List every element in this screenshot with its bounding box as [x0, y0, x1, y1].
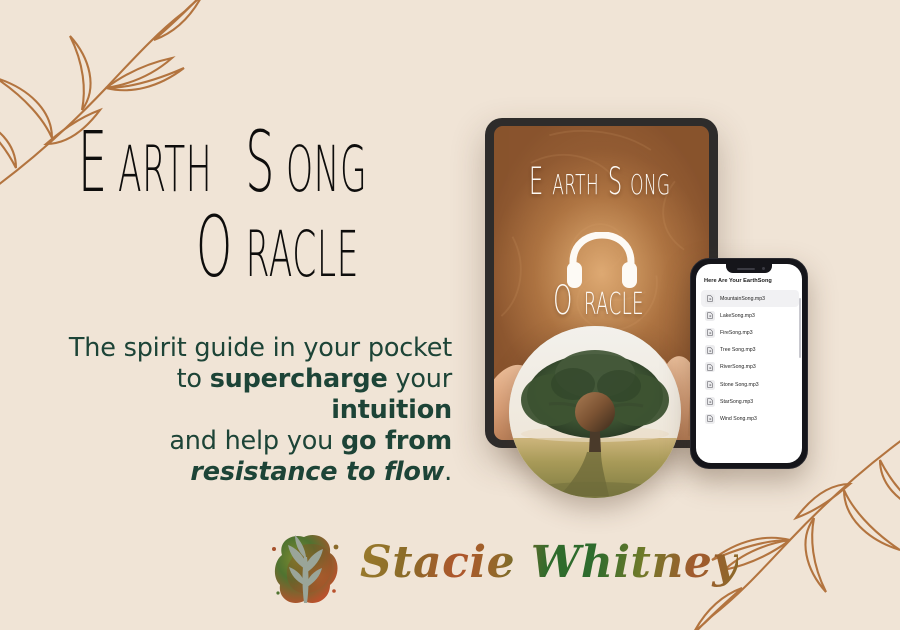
audio-file-icon — [705, 294, 715, 304]
file-name: RiverSong.mp3 — [720, 364, 756, 370]
audio-file-icon — [705, 362, 715, 372]
audio-file-icon — [705, 414, 715, 424]
speaker-bar-icon — [737, 268, 755, 270]
file-name: MountainSong.mp3 — [720, 296, 765, 302]
audio-file-icon — [705, 397, 715, 407]
list-item[interactable]: Stone Song.mp3 — [701, 376, 799, 393]
headline-cap-s: S — [245, 124, 275, 201]
subtitle-bold-supercharge: supercharge — [210, 364, 388, 394]
page-title: EARTHSONG ORACLE — [78, 124, 470, 287]
subtitle-bold-intuition: intuition — [331, 395, 452, 425]
file-name: Tree Song.mp3 — [720, 347, 756, 353]
list-item[interactable]: MountainSong.mp3 — [701, 290, 799, 307]
audio-file-icon — [705, 311, 715, 321]
subtitle-line-4: resistance to flow. — [62, 457, 452, 488]
subtitle-italic-resistance: resistance to flow — [190, 457, 444, 487]
tablet-title-ong: ONG — [630, 168, 670, 201]
subtitle-line-3: and help you go from — [62, 426, 452, 457]
audio-file-list[interactable]: MountainSong.mp3LakeSong.mp3FireSong.mp3… — [701, 290, 799, 428]
file-name: StarSong.mp3 — [720, 399, 753, 405]
headline-cap-o: O — [196, 209, 233, 286]
list-item[interactable]: Wind Song.mp3 — [701, 410, 799, 427]
audio-file-icon — [705, 380, 715, 390]
phone-scrollbar[interactable] — [799, 298, 801, 358]
watercolor-leaf-logo-icon — [268, 529, 344, 609]
file-list-heading: Here Are Your EarthSong — [704, 278, 802, 284]
subtitle-line-2: to supercharge your intuition — [62, 364, 452, 426]
audio-file-icon — [705, 345, 715, 355]
subtitle-line3-pre: and help you — [169, 426, 341, 456]
audio-file-icon — [705, 328, 715, 338]
list-item[interactable]: LakeSong.mp3 — [701, 307, 799, 324]
subtitle-bold-gofrom: go from — [341, 426, 452, 456]
tablet-title-cap2: S — [608, 160, 623, 203]
brand-signature: Stacie Whitney — [268, 527, 648, 613]
file-name: LakeSong.mp3 — [720, 313, 755, 319]
cd-disc-mockup — [509, 326, 681, 498]
list-item[interactable]: Tree Song.mp3 — [701, 342, 799, 359]
list-item[interactable]: FireSong.mp3 — [701, 324, 799, 341]
subtitle-line-1: The spirit guide in your pocket — [62, 333, 452, 364]
list-item[interactable]: StarSong.mp3 — [701, 393, 799, 410]
file-name: Wind Song.mp3 — [720, 416, 757, 422]
subtitle-line2-mid: your — [388, 364, 452, 394]
file-name: Stone Song.mp3 — [720, 382, 759, 388]
tablet-title-arth: ARTH — [552, 168, 599, 201]
tablet-title-cap: E — [529, 160, 544, 203]
headline-ong: ONG — [286, 141, 367, 199]
headline-cap-e: E — [78, 124, 108, 201]
poster-canvas: EARTHSONG ORACLE The spirit guide in you… — [0, 0, 900, 630]
subtitle-period: . — [444, 457, 452, 487]
headline-racle: RACLE — [245, 226, 358, 284]
list-item[interactable]: RiverSong.mp3 — [701, 359, 799, 376]
phone-notch — [726, 264, 772, 273]
file-name: FireSong.mp3 — [720, 330, 753, 336]
phone-screen: Here Are Your EarthSong MountainSong.mp3… — [696, 264, 802, 463]
subtitle-text: The spirit guide in your pocket to super… — [62, 333, 452, 489]
tablet-title: EARTHSONG — [494, 160, 709, 203]
phone-device-mockup: Here Are Your EarthSong MountainSong.mp3… — [690, 258, 808, 469]
cd-center-hole — [575, 392, 615, 432]
subtitle-line2-pre: to — [177, 364, 210, 394]
brand-name-text: Stacie Whitney — [360, 537, 738, 588]
camera-dot-icon — [762, 267, 765, 270]
headline-arth: ARTH — [118, 141, 212, 199]
